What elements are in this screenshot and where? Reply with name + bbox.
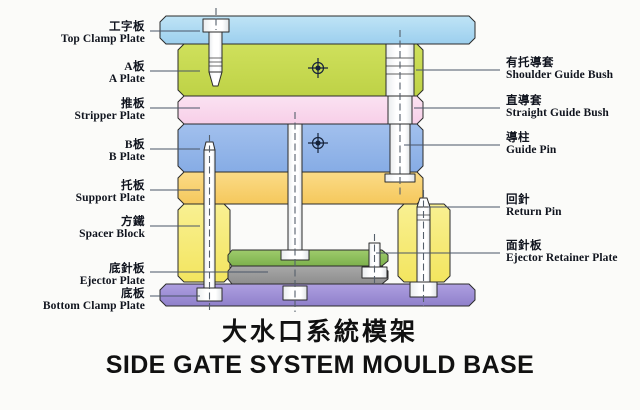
label-en: Spacer Block — [79, 229, 145, 241]
label-cn: 面針板 — [506, 241, 618, 253]
label-cn: 導柱 — [506, 133, 556, 145]
label-cn: 托板 — [76, 181, 145, 193]
mould-base-diagram-page: 工字板 Top Clamp Plate A板 A Plate 推板 Stripp… — [0, 0, 640, 410]
label-a-plate: A板 A Plate — [109, 62, 145, 85]
label-en: Stripper Plate — [75, 111, 146, 123]
label-cn: 有托導套 — [506, 58, 613, 70]
label-stripper-plate: 推板 Stripper Plate — [75, 99, 146, 122]
label-cn: 推板 — [75, 99, 146, 111]
label-top-clamp-plate: 工字板 Top Clamp Plate — [61, 22, 145, 45]
label-b-plate: B板 B Plate — [109, 140, 145, 163]
label-cn: 工字板 — [61, 22, 145, 34]
label-cn: 方鐵 — [79, 217, 145, 229]
label-cn: 底板 — [43, 289, 145, 301]
label-en: Straight Guide Bush — [506, 108, 609, 120]
title-chinese: 大水口系統模架 — [0, 312, 640, 348]
label-shoulder-guide-bush: 有托導套 Shoulder Guide Bush — [506, 58, 613, 81]
label-cn: 直導套 — [506, 96, 609, 108]
label-return-pin: 回針 Return Pin — [506, 195, 562, 218]
label-en: Ejector Retainer Plate — [506, 253, 618, 265]
label-straight-guide-bush: 直導套 Straight Guide Bush — [506, 96, 609, 119]
label-en: Bottom Clamp Plate — [43, 301, 145, 313]
label-spacer-block: 方鐵 Spacer Block — [79, 217, 145, 240]
title-english: SIDE GATE SYSTEM MOULD BASE — [0, 351, 640, 380]
label-en: Shoulder Guide Bush — [506, 70, 613, 82]
label-en: A Plate — [109, 74, 145, 86]
label-cn: 底針板 — [80, 264, 145, 276]
plate-stripper-plate — [178, 96, 423, 124]
label-en: Return Pin — [506, 207, 562, 219]
label-en: Support Plate — [76, 193, 145, 205]
label-cn: A板 — [109, 62, 145, 74]
label-guide-pin: 導柱 Guide Pin — [506, 133, 556, 156]
label-cn: B板 — [109, 140, 145, 152]
label-ejector-plate: 底針板 Ejector Plate — [80, 264, 145, 287]
label-support-plate: 托板 Support Plate — [76, 181, 145, 204]
label-bottom-clamp-plate: 底板 Bottom Clamp Plate — [43, 289, 145, 312]
label-en: Ejector Plate — [80, 276, 145, 288]
label-ejector-retainer-plate: 面針板 Ejector Retainer Plate — [506, 241, 618, 264]
label-en: B Plate — [109, 152, 145, 164]
label-en: Guide Pin — [506, 145, 556, 157]
label-cn: 回針 — [506, 195, 562, 207]
diagram-title: 大水口系統模架 SIDE GATE SYSTEM MOULD BASE — [0, 312, 640, 380]
label-en: Top Clamp Plate — [61, 34, 145, 46]
